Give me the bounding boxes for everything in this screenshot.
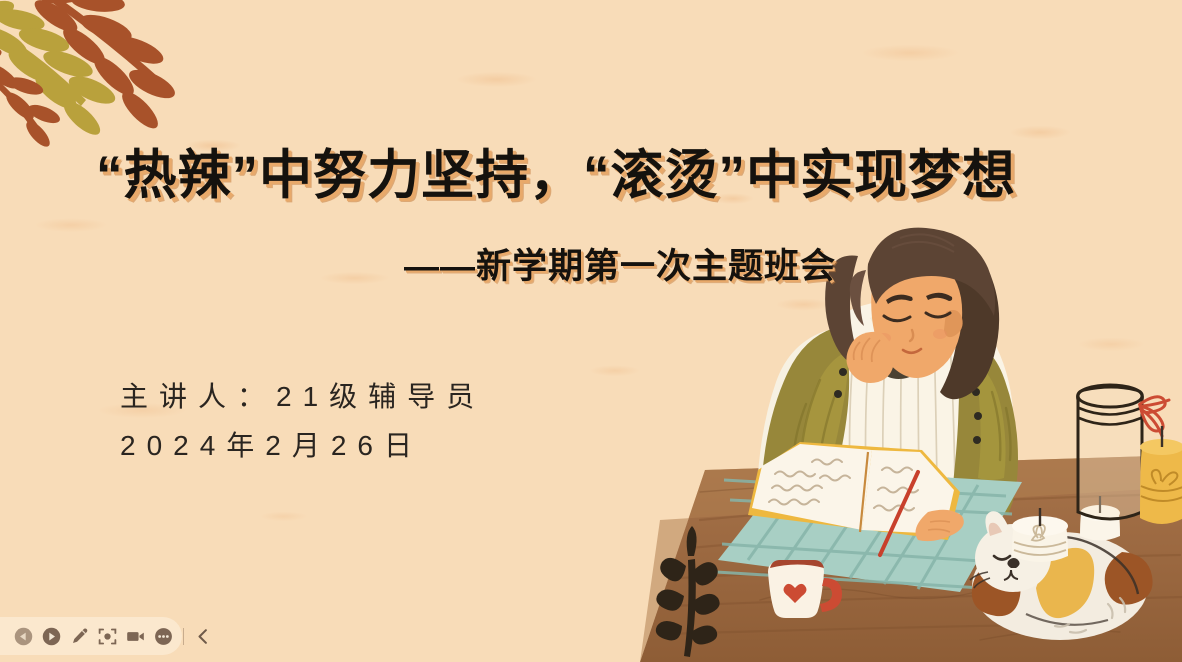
presentation-slide: “热辣”中努力坚持，“滚烫”中实现梦想 ——新学期第一次主题班会 主讲人：21级… [0, 0, 1182, 662]
pen-button[interactable] [67, 624, 92, 649]
slide-subtitle: ——新学期第一次主题班会 [96, 238, 836, 289]
presentation-toolbar[interactable] [0, 617, 182, 655]
date-line: 2024年2月26日 [120, 424, 423, 464]
slide-title: “热辣”中努力坚持，“滚烫”中实现梦想 [96, 133, 1056, 209]
play-button[interactable] [39, 624, 64, 649]
toolbar-divider [183, 628, 184, 645]
presenter-line: 主讲人：21级辅导员 [120, 375, 485, 415]
record-button[interactable] [123, 624, 148, 649]
corner-leaf-decoration [0, 0, 246, 150]
previous-button[interactable] [11, 624, 36, 649]
collapse-button[interactable] [191, 624, 216, 649]
more-button[interactable] [151, 624, 176, 649]
glass-jar [1078, 385, 1143, 519]
jar-red-bow [1140, 397, 1169, 436]
laser-pointer-button[interactable] [95, 624, 120, 649]
